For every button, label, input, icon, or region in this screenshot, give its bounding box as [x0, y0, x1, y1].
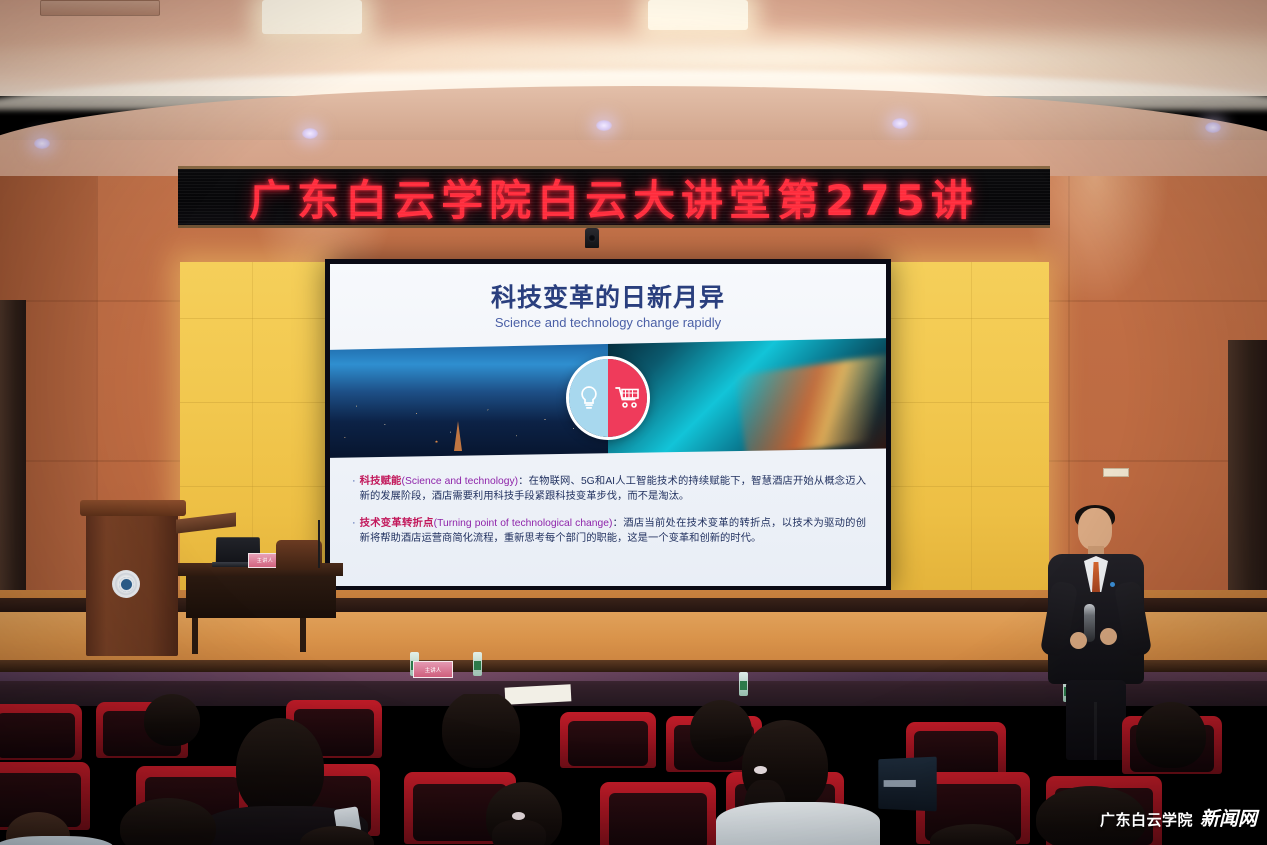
slide-hero-image: [330, 338, 886, 458]
table-leg: [192, 618, 198, 654]
stage-table-apron: [186, 576, 336, 618]
desk-nameplate-text: 主讲人: [425, 666, 442, 674]
stage-nameplate-text: 主讲人: [257, 557, 274, 564]
ceiling-downlight: [892, 118, 908, 129]
water-bottle: [473, 652, 482, 676]
seat: [600, 782, 716, 845]
hair-tie: [754, 766, 767, 774]
speaker-left-hand: [1070, 632, 1087, 649]
audience-shoulders: [0, 836, 114, 845]
speaker-right-hand: [1100, 628, 1117, 645]
bullet-heading-en: (Turning point of technological change): [434, 518, 613, 529]
watermark-org: 广东白云学院: [1100, 809, 1193, 830]
slide-bullet-item: · 技术变革转折点(Turning point of technological…: [352, 516, 866, 546]
seat: [0, 704, 82, 760]
stage-chair: [276, 540, 322, 570]
bullet-separator: ：: [518, 476, 529, 487]
bullet-heading-en: (Science and technology): [402, 476, 519, 487]
bullet-heading-cn: 技术变革转折点: [360, 518, 434, 529]
audience-head: [236, 718, 324, 818]
audience-laptop[interactable]: [878, 757, 936, 812]
podium-top-surface: [80, 500, 186, 516]
wall-plate[interactable]: [1103, 468, 1129, 477]
lecture-hall-photo: 广东白云学院白云大讲堂第275讲 科技变革的日新月异 Science and t…: [0, 0, 1267, 845]
bullet-marker: ·: [352, 474, 356, 504]
bullet-separator: ：: [612, 518, 623, 529]
audience-ponytail: [492, 820, 546, 845]
audience-shoulders: [716, 802, 880, 845]
bullet-marker: ·: [352, 516, 356, 546]
speaker-lapel-pin: [1110, 582, 1115, 587]
water-bottle: [739, 672, 748, 696]
ceiling-ac-vent: [40, 0, 160, 16]
projection-screen: 科技变革的日新月异 Science and technology change …: [325, 259, 891, 591]
slide-subtitle: Science and technology change rapidly: [330, 315, 886, 330]
slide-bullet-item: · 科技赋能(Science and technology)：在物联网、5G和A…: [352, 474, 866, 504]
audience-head: [1136, 702, 1206, 768]
lightbulb-icon: [578, 385, 600, 411]
accent-panel-right: [891, 262, 1049, 598]
audience-head: [442, 694, 520, 768]
slide-title: 科技变革的日新月异: [330, 278, 886, 314]
ceiling-downlight: [302, 128, 318, 139]
bullet-heading-cn: 科技赋能: [360, 476, 402, 487]
tower-landmark: [454, 421, 462, 451]
shopping-cart-icon: [615, 386, 641, 410]
led-banner: 广东白云学院白云大讲堂第275讲: [178, 166, 1050, 228]
hair-tie: [512, 812, 525, 820]
led-banner-text: 广东白云学院白云大讲堂第275讲: [249, 167, 979, 228]
table-leg: [300, 618, 306, 652]
watermark: 广东白云学院 新闻网: [1100, 804, 1257, 831]
audience-head: [144, 694, 200, 746]
presentation-slide: 科技变革的日新月异 Science and technology change …: [330, 264, 886, 586]
watermark-site: 新闻网: [1200, 804, 1257, 831]
seat: [560, 712, 656, 768]
ceiling-downlight: [34, 138, 50, 149]
slide-bullet-list: · 科技赋能(Science and technology)：在物联网、5G和A…: [330, 458, 886, 586]
badge-split-circle: [566, 356, 650, 440]
ceiling-downlight: [596, 120, 612, 131]
microphone-stand: [318, 520, 320, 568]
side-door-left[interactable]: [0, 300, 26, 630]
university-seal-icon: [112, 570, 140, 598]
speaker-head: [1078, 508, 1112, 550]
ceiling-downlight: [1205, 122, 1221, 133]
audience-area: [0, 694, 1267, 845]
desk-nameplate: 主讲人: [413, 661, 453, 678]
camera-icon: [585, 228, 599, 248]
